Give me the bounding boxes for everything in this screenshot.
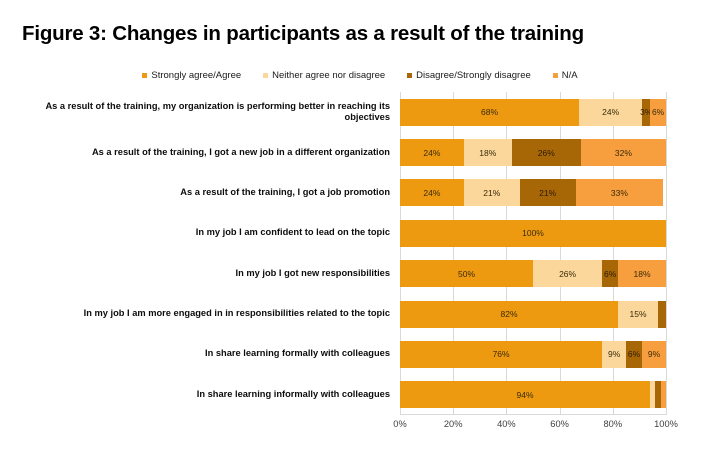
bar-segment[interactable]: 32% <box>581 139 666 166</box>
bar-segment[interactable] <box>658 301 666 328</box>
x-tick-label: 20% <box>444 419 463 429</box>
bar-segment[interactable]: 9% <box>602 341 626 368</box>
bar-segment[interactable]: 6% <box>602 260 618 287</box>
bar-segment[interactable]: 21% <box>520 179 576 206</box>
x-tick-label: 40% <box>497 419 516 429</box>
category-label: In my job I am more engaged in in respon… <box>0 308 396 320</box>
bar-rows: 68%24%3%6%24%18%26%32%24%21%21%33%100%50… <box>400 92 666 415</box>
bar-segment[interactable]: 94% <box>400 381 650 408</box>
bar-segment-label: 18% <box>634 269 651 279</box>
bar-segment-label: 21% <box>539 188 556 198</box>
bar-segment-label: 15% <box>630 309 647 319</box>
bar-row[interactable]: 76%9%6%9% <box>400 341 666 368</box>
bar-segment[interactable]: 6% <box>626 341 642 368</box>
bar-segment[interactable]: 26% <box>533 260 602 287</box>
category-label: As a result of the training, I got a job… <box>0 187 396 199</box>
bar-segment-label: 26% <box>538 148 555 158</box>
bar-row[interactable]: 24%18%26%32% <box>400 139 666 166</box>
bar-row[interactable]: 82%15% <box>400 301 666 328</box>
x-tick-label: 100% <box>654 419 678 429</box>
category-label: In my job I am confident to lead on the … <box>0 227 396 239</box>
x-axis-tick-labels: 0%20%40%60%80%100% <box>400 419 666 437</box>
bar-segment-label: 9% <box>648 349 660 359</box>
bar-segment[interactable]: 3% <box>642 99 650 126</box>
bar-segment-label: 94% <box>517 390 534 400</box>
bar-row[interactable]: 24%21%21%33% <box>400 179 666 206</box>
chart-title: Figure 3: Changes in participants as a r… <box>22 22 712 46</box>
bar-row[interactable]: 50%26%6%18% <box>400 260 666 287</box>
bar-segment-label: 6% <box>628 349 640 359</box>
bar-segment-label: 21% <box>483 188 500 198</box>
bar-segment-label: 50% <box>458 269 475 279</box>
bar-segment[interactable]: 9% <box>642 341 666 368</box>
category-label: In share learning formally with colleagu… <box>0 348 396 360</box>
x-tick-label: 0% <box>393 419 406 429</box>
chart-figure: Figure 3: Changes in participants as a r… <box>0 0 720 450</box>
bar-segment[interactable]: 100% <box>400 220 666 247</box>
bar-segment-label: 6% <box>604 269 616 279</box>
bar-segment[interactable]: 82% <box>400 301 618 328</box>
plot-area: 68%24%3%6%24%18%26%32%24%21%21%33%100%50… <box>400 92 666 415</box>
bar-segment-label: 24% <box>602 107 619 117</box>
bar-row[interactable]: 68%24%3%6% <box>400 99 666 126</box>
legend-item-label: N/A <box>562 70 578 81</box>
bar-segment[interactable]: 33% <box>576 179 664 206</box>
legend-item[interactable]: Disagree/Strongly disagree <box>407 70 531 81</box>
legend-item[interactable]: Neither agree nor disagree <box>263 70 385 81</box>
bar-segment[interactable]: 26% <box>512 139 581 166</box>
bar-segment-label: 6% <box>652 107 664 117</box>
bar-segment[interactable] <box>661 381 666 408</box>
bar-segment-label: 100% <box>522 228 544 238</box>
bar-segment-label: 82% <box>501 309 518 319</box>
bar-segment[interactable]: 24% <box>400 139 464 166</box>
bar-segment-label: 18% <box>479 148 496 158</box>
bar-segment[interactable]: 76% <box>400 341 602 368</box>
category-axis-labels: As a result of the training, my organiza… <box>0 92 396 415</box>
chart-legend: Strongly agree/AgreeNeither agree nor di… <box>0 70 720 81</box>
bar-row[interactable]: 94% <box>400 381 666 408</box>
bar-segment[interactable]: 6% <box>650 99 666 126</box>
category-label: As a result of the training, I got a new… <box>0 147 396 159</box>
bar-segment-label: 9% <box>608 349 620 359</box>
category-label: In share learning informally with collea… <box>0 389 396 401</box>
bar-segment[interactable]: 15% <box>618 301 658 328</box>
bar-segment-label: 68% <box>481 107 498 117</box>
bar-row[interactable]: 100% <box>400 220 666 247</box>
legend-swatch-icon <box>263 73 268 78</box>
legend-item-label: Neither agree nor disagree <box>272 70 385 81</box>
bar-segment-label: 32% <box>615 148 632 158</box>
legend-item-label: Disagree/Strongly disagree <box>416 70 531 81</box>
gridline <box>666 92 667 415</box>
bar-segment-label: 26% <box>559 269 576 279</box>
x-tick-label: 60% <box>550 419 569 429</box>
legend-swatch-icon <box>142 73 147 78</box>
legend-swatch-icon <box>553 73 558 78</box>
bar-segment[interactable]: 24% <box>400 179 464 206</box>
bar-segment[interactable]: 24% <box>579 99 642 126</box>
category-label: In my job I got new responsibilities <box>0 268 396 280</box>
bar-segment-label: 24% <box>423 148 440 158</box>
legend-item[interactable]: Strongly agree/Agree <box>142 70 241 81</box>
bar-segment[interactable]: 21% <box>464 179 520 206</box>
bar-segment-label: 76% <box>493 349 510 359</box>
bar-segment[interactable]: 18% <box>464 139 512 166</box>
legend-item[interactable]: N/A <box>553 70 578 81</box>
bar-segment[interactable]: 50% <box>400 260 533 287</box>
bar-segment-label: 24% <box>423 188 440 198</box>
bar-segment[interactable]: 18% <box>618 260 666 287</box>
legend-item-label: Strongly agree/Agree <box>151 70 241 81</box>
x-tick-label: 80% <box>603 419 622 429</box>
legend-swatch-icon <box>407 73 412 78</box>
bar-segment-label: 33% <box>611 188 628 198</box>
bar-segment[interactable]: 68% <box>400 99 579 126</box>
category-label: As a result of the training, my organiza… <box>0 101 396 124</box>
